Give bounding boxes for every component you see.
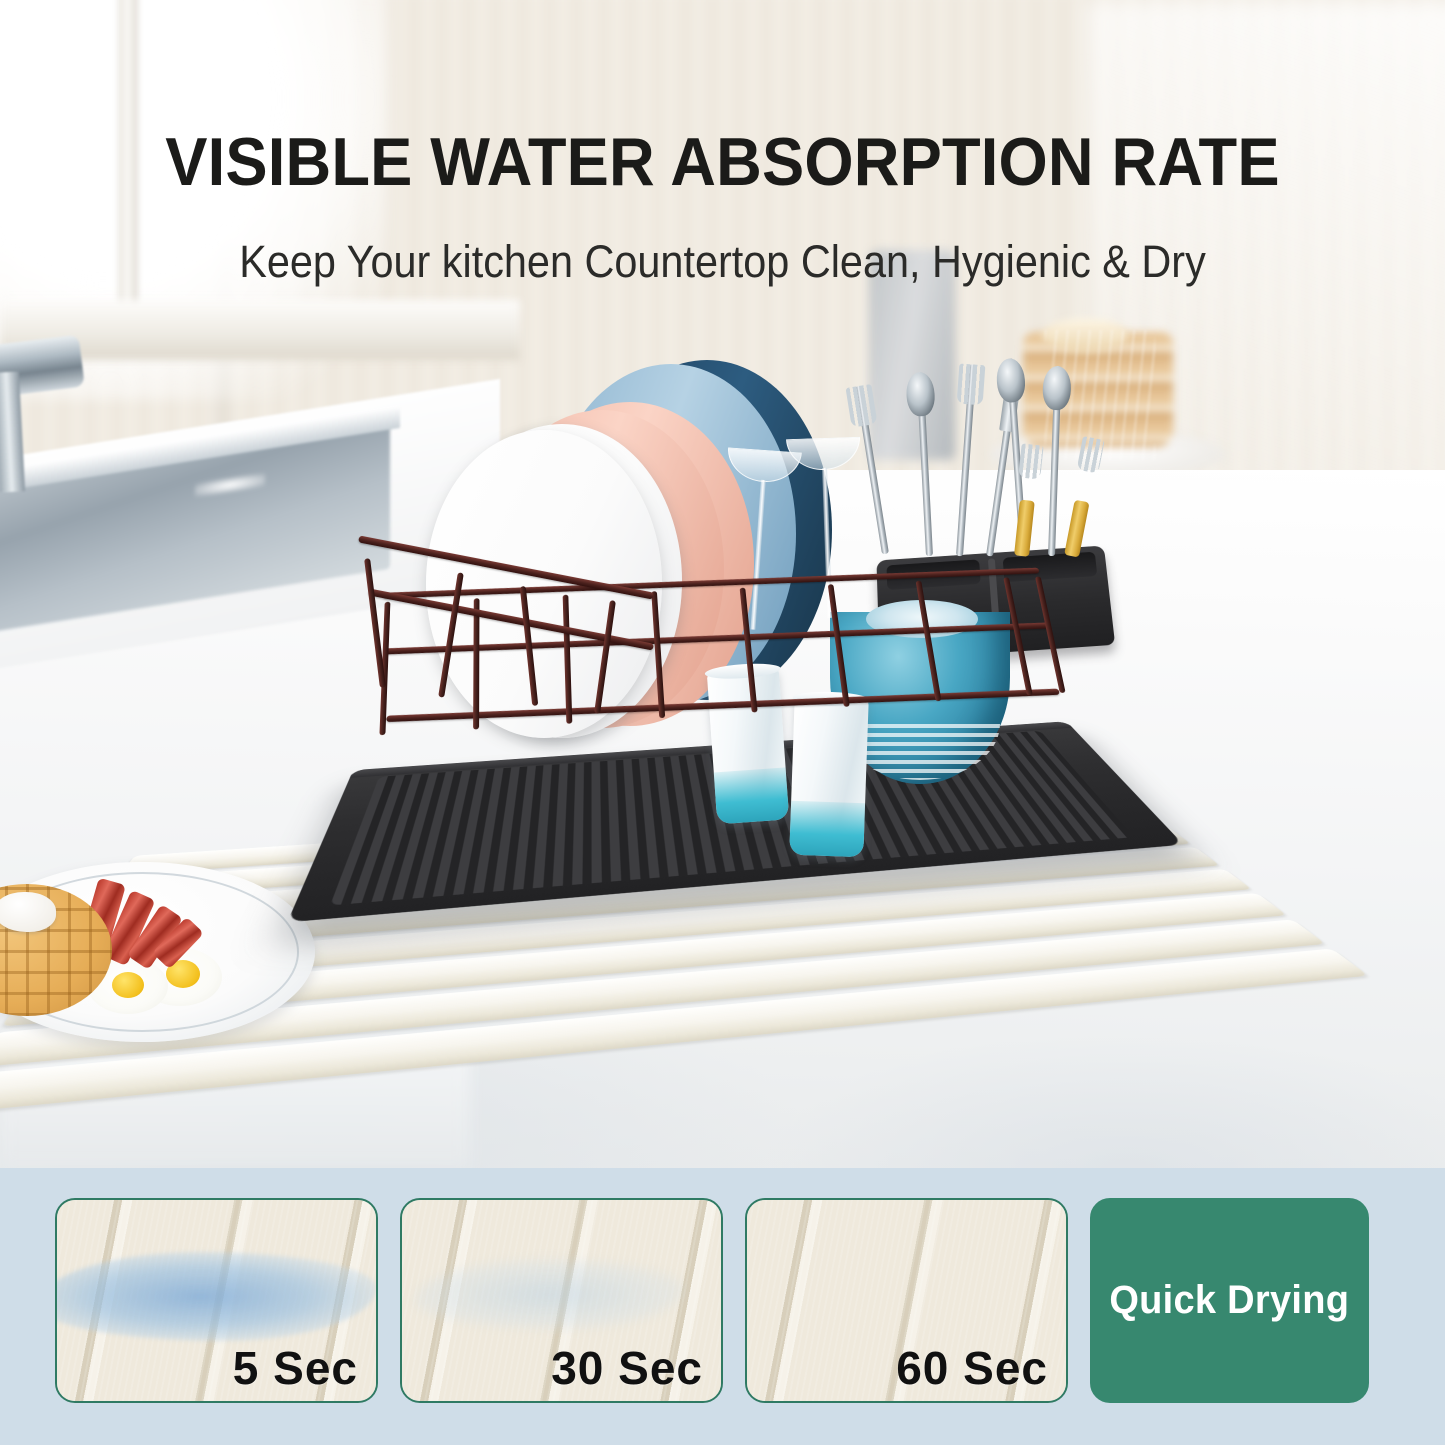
fork-head [1077, 436, 1105, 474]
absorption-card-5-sec[interactable]: 5 Sec [55, 1198, 378, 1403]
basket-post [473, 598, 479, 730]
basket-post [1003, 577, 1033, 696]
spoon-head [995, 358, 1026, 404]
basket-post [828, 584, 850, 707]
basket-post [916, 581, 942, 702]
water-stain [415, 1260, 683, 1328]
card-label: 30 Sec [551, 1341, 703, 1395]
fork-head [1018, 443, 1043, 479]
egg-yolk [112, 972, 144, 998]
spoon-head [905, 372, 935, 417]
cup-teal-band [714, 768, 789, 825]
dish-rack [330, 350, 1160, 960]
glass-bowl [786, 437, 861, 472]
whipped-cream [0, 892, 56, 932]
absorption-card-60-sec[interactable]: 60 Sec [745, 1198, 1068, 1403]
absorption-comparison-strip: 5 Sec 30 Sec 60 Sec Quick Drying [0, 1168, 1445, 1445]
quick-drying-label: Quick Drying [1110, 1278, 1350, 1323]
infographic-root: VISIBLE WATER ABSORPTION RATE Keep Your … [0, 0, 1445, 1445]
card-label: 5 Sec [233, 1341, 358, 1395]
fork-head [846, 384, 878, 428]
comparison-card-list: 5 Sec 30 Sec 60 Sec Quick Drying [55, 1198, 1369, 1403]
spoon-utensil [904, 371, 944, 556]
hero-kitchen-scene: VISIBLE WATER ABSORPTION RATE Keep Your … [0, 0, 1445, 1168]
basket-post [563, 595, 573, 724]
basket-bottom-rail [386, 689, 1060, 722]
cup-teal-band [789, 801, 865, 857]
basket-mid-rail [385, 622, 1050, 654]
basket-post [1035, 576, 1066, 693]
card-label: 60 Sec [896, 1341, 1048, 1395]
page-title: VISIBLE WATER ABSORPTION RATE [51, 128, 1395, 197]
breakfast-plate [0, 862, 315, 1052]
spoon-head [1042, 366, 1072, 411]
basket-post [651, 591, 665, 718]
basket-post [740, 588, 758, 713]
quick-drying-callout[interactable]: Quick Drying [1090, 1198, 1369, 1403]
page-subtitle: Keep Your kitchen Countertop Clean, Hygi… [58, 237, 1387, 287]
absorption-card-30-sec[interactable]: 30 Sec [400, 1198, 723, 1403]
fork-head [957, 364, 986, 406]
